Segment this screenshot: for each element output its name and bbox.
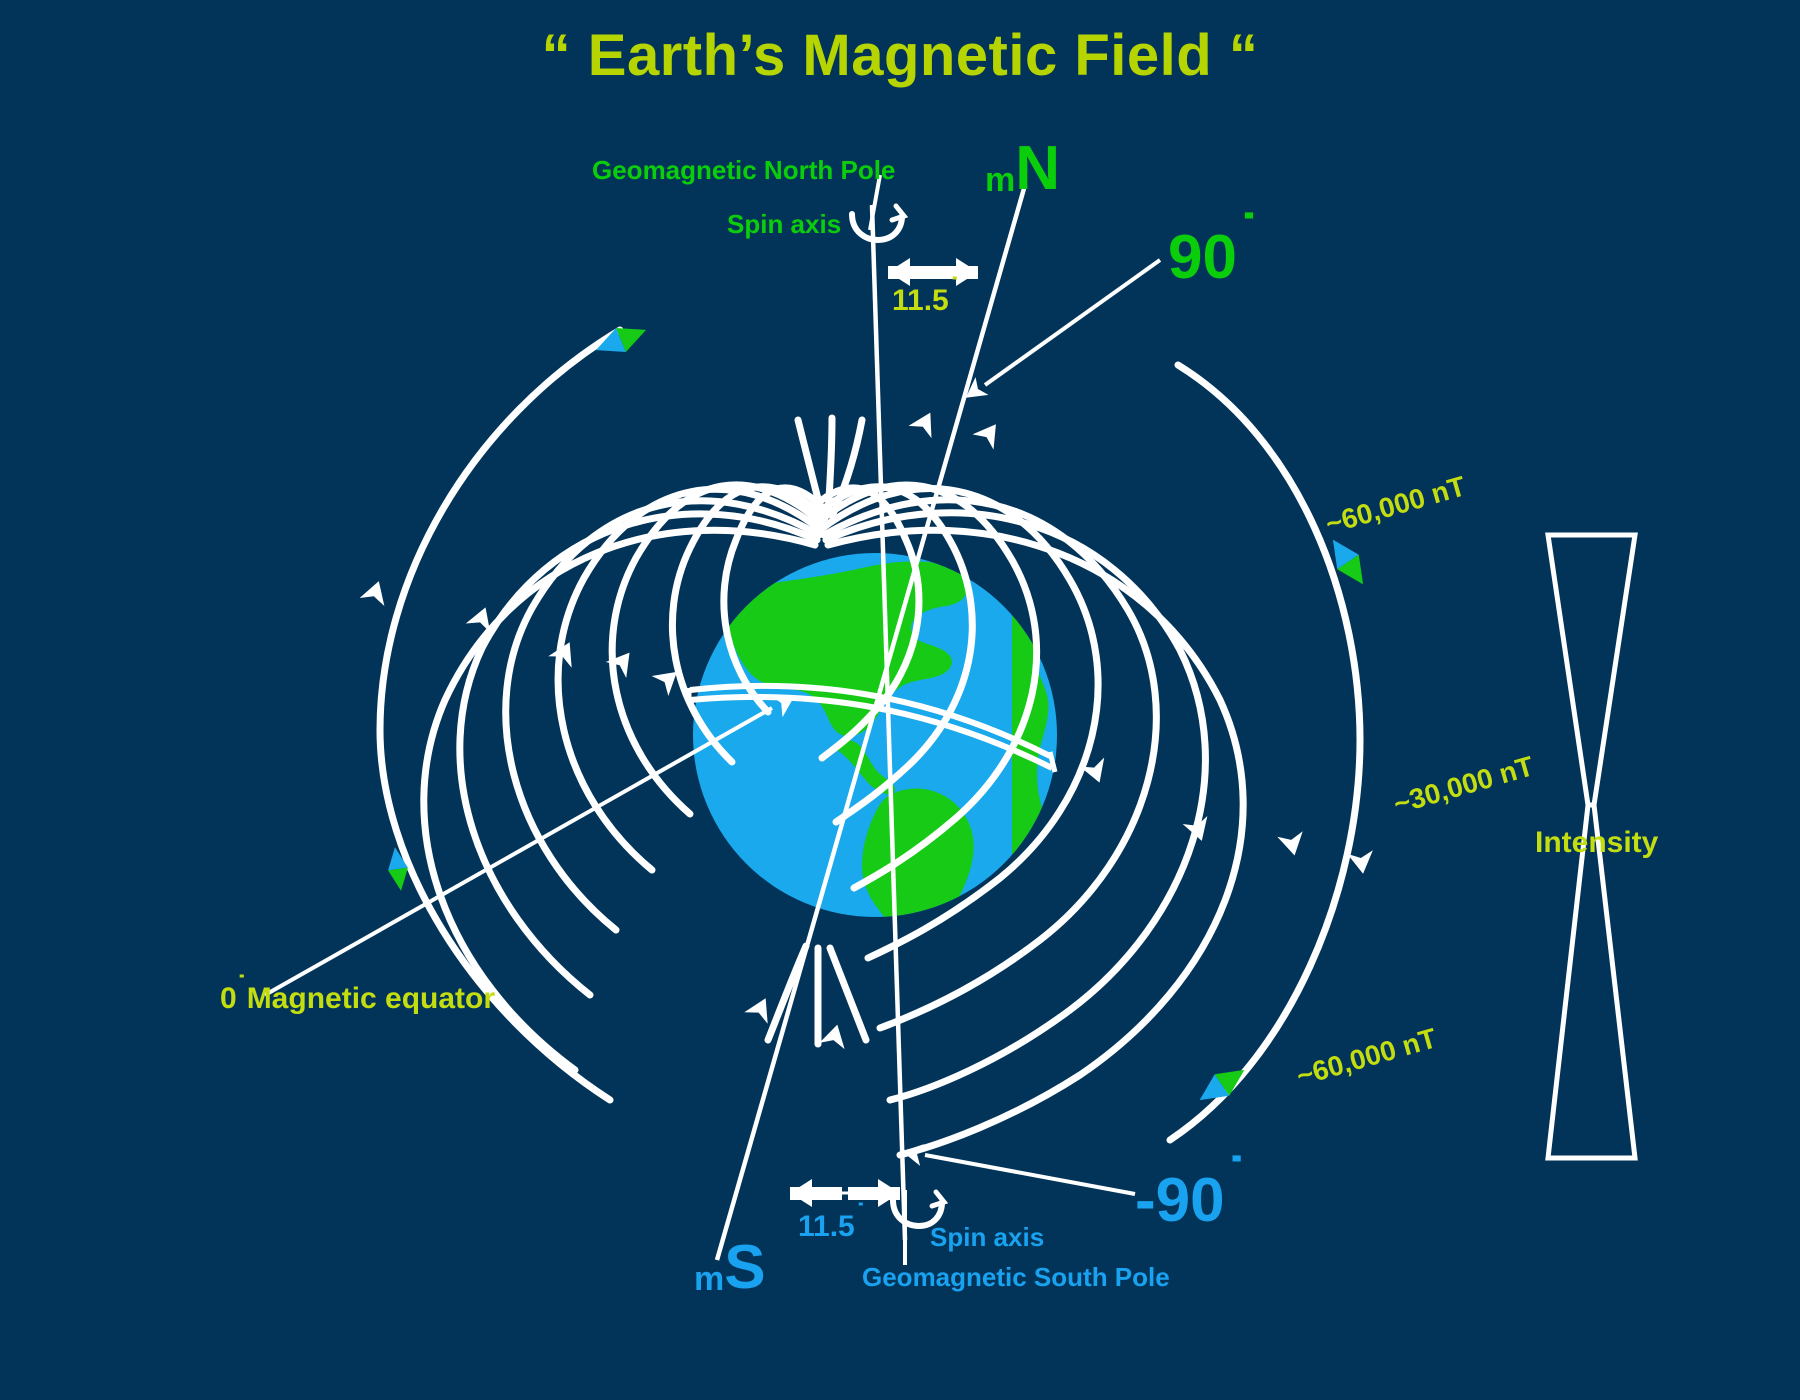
tilt-south-value: 11.5: [798, 1210, 855, 1243]
field-line-near-n2: [828, 418, 832, 514]
diagram-canvas: “ Earth’s Magnetic Field “ Geomagnetic N…: [0, 0, 1800, 1400]
field-line-near-s2: [768, 946, 806, 1040]
inclination-south-degree: ˙: [1227, 1145, 1247, 1212]
field-line-near-s3: [830, 948, 866, 1040]
needle-marker-se: [1192, 1059, 1251, 1111]
tilt-north-value: 11.5: [892, 284, 949, 317]
tilt-south-degree: ˙: [856, 1198, 866, 1231]
inclination-north-degree: ˙: [1239, 202, 1259, 269]
magnetic-south-label: mS: [694, 1232, 766, 1303]
page-title: “ Earth’s Magnetic Field “: [0, 22, 1800, 89]
tilt-arrow-south: [790, 1179, 900, 1207]
intensity-scale-label: Intensity: [1535, 826, 1658, 860]
inclination-north-value: 90: [1168, 223, 1237, 292]
spin-axis-south-label: Spin axis: [930, 1222, 1044, 1253]
rotation-arrow-icon-north: [852, 206, 904, 240]
leader-minus-90: [925, 1155, 1135, 1194]
inclination-north-label: 90˙: [1168, 222, 1257, 293]
leader-90: [985, 260, 1160, 385]
magnetic-north-label: mN: [985, 133, 1060, 204]
leader-magnetic-equator: [265, 708, 772, 995]
magnetic-north-letter: N: [1015, 134, 1060, 203]
tilt-north-label: 11.5˙: [892, 284, 959, 318]
magnetic-equator-text: Magnetic equator: [247, 982, 495, 1015]
tilt-south-label: 11.5˙: [798, 1210, 865, 1244]
field-line-outer-right: [1170, 365, 1360, 1140]
magnetic-south-letter: S: [724, 1233, 765, 1302]
magnetic-south-prefix: m: [694, 1260, 724, 1298]
rotation-arrow-icon-south: [893, 1192, 944, 1226]
tilt-arrow-north: [888, 258, 978, 286]
magnetic-equator-label: 0˙Magnetic equator: [220, 982, 495, 1016]
magnetic-field-svg: [0, 0, 1800, 1400]
spin-axis-north-label: Spin axis: [727, 209, 841, 240]
geomagnetic-north-pole-label: Geomagnetic North Pole: [592, 155, 895, 186]
inclination-south-label: -90˙: [1135, 1165, 1245, 1236]
geomagnetic-south-pole-label: Geomagnetic South Pole: [862, 1262, 1170, 1293]
magnetic-equator-degree: ˙: [237, 970, 247, 1003]
tilt-north-degree: ˙: [950, 272, 960, 305]
magnetic-equator-value: 0: [220, 982, 237, 1015]
inclination-south-value: -90: [1135, 1166, 1225, 1235]
magnetic-north-prefix: m: [985, 161, 1015, 199]
